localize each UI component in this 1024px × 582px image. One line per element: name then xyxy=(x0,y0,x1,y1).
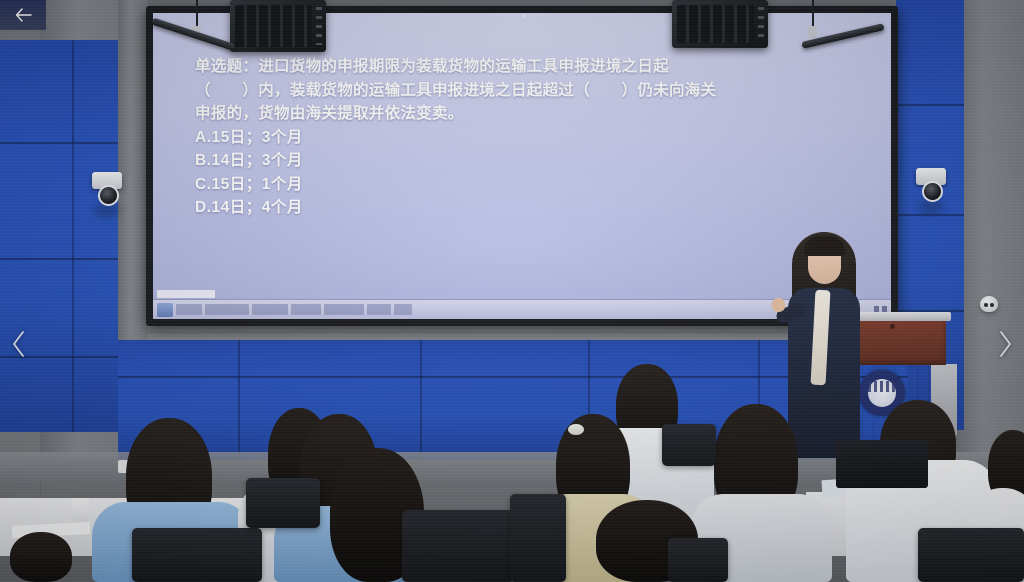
taskbar-app-6[interactable] xyxy=(367,304,391,315)
instructor-figure xyxy=(778,228,870,458)
chair-1 xyxy=(132,528,262,582)
slide-option-c: C.15日；1个月 xyxy=(195,173,865,197)
paper-cup xyxy=(72,498,89,522)
acoustic-panel-left xyxy=(0,40,118,432)
next-video-button[interactable] xyxy=(988,316,1022,372)
dome-sensor-right xyxy=(980,296,998,312)
chair-2 xyxy=(402,510,514,582)
chair-4 xyxy=(246,478,320,528)
wall-column-right xyxy=(955,0,1024,470)
ptz-camera-left xyxy=(92,172,122,206)
taskbar-app-1[interactable] xyxy=(176,304,202,315)
back-button[interactable] xyxy=(0,0,46,30)
desk-monitor xyxy=(836,440,928,488)
slide-option-d: D.14日；4个月 xyxy=(195,196,865,220)
video-frame: 单选题：进口货物的申报期限为装载货物的运输工具申报进境之日起 （ ）内，装载货物… xyxy=(0,0,1024,582)
instructor-fringe xyxy=(804,236,845,256)
slide-question-line-3: 申报的，货物由海关提取并依法变卖。 xyxy=(195,102,865,126)
taskbar-app-3[interactable] xyxy=(252,304,288,315)
chevron-left-icon xyxy=(11,330,27,358)
mic-mount-right xyxy=(808,26,817,38)
taskbar-app-4[interactable] xyxy=(291,304,321,315)
chair-6 xyxy=(918,528,1024,582)
taskbar-app-5[interactable] xyxy=(324,304,364,315)
chair-5 xyxy=(662,424,716,466)
taskbar-app-7[interactable] xyxy=(394,304,412,315)
chevron-right-icon xyxy=(997,330,1013,358)
taskbar-tooltip-badge xyxy=(157,290,215,298)
ceiling-light-reflection xyxy=(523,14,526,18)
slide-question-line-1: 单选题：进口货物的申报期限为装载货物的运输工具申报进境之日起 xyxy=(195,55,865,79)
taskbar-app-2[interactable] xyxy=(205,304,249,315)
chair-3 xyxy=(510,494,566,582)
wall-column-left-inner xyxy=(118,0,148,340)
student-head-11 xyxy=(10,532,72,582)
arrow-left-icon xyxy=(15,8,32,22)
ceiling-speaker-left xyxy=(230,0,326,52)
windows-start-icon[interactable] xyxy=(157,303,173,317)
previous-video-button[interactable] xyxy=(2,316,36,372)
ptz-camera-right xyxy=(916,168,946,202)
slide-question-line-2: （ ）内，装载货物的运输工具申报进境之日起超过（ ）仍未向海关 xyxy=(195,79,865,103)
chair-7 xyxy=(668,538,728,582)
hair-scrunchie xyxy=(568,424,584,435)
ceiling-speaker-right xyxy=(672,0,768,48)
slide-option-a: A.15日；3个月 xyxy=(195,126,865,150)
slide-option-b: B.14日；3个月 xyxy=(195,149,865,173)
